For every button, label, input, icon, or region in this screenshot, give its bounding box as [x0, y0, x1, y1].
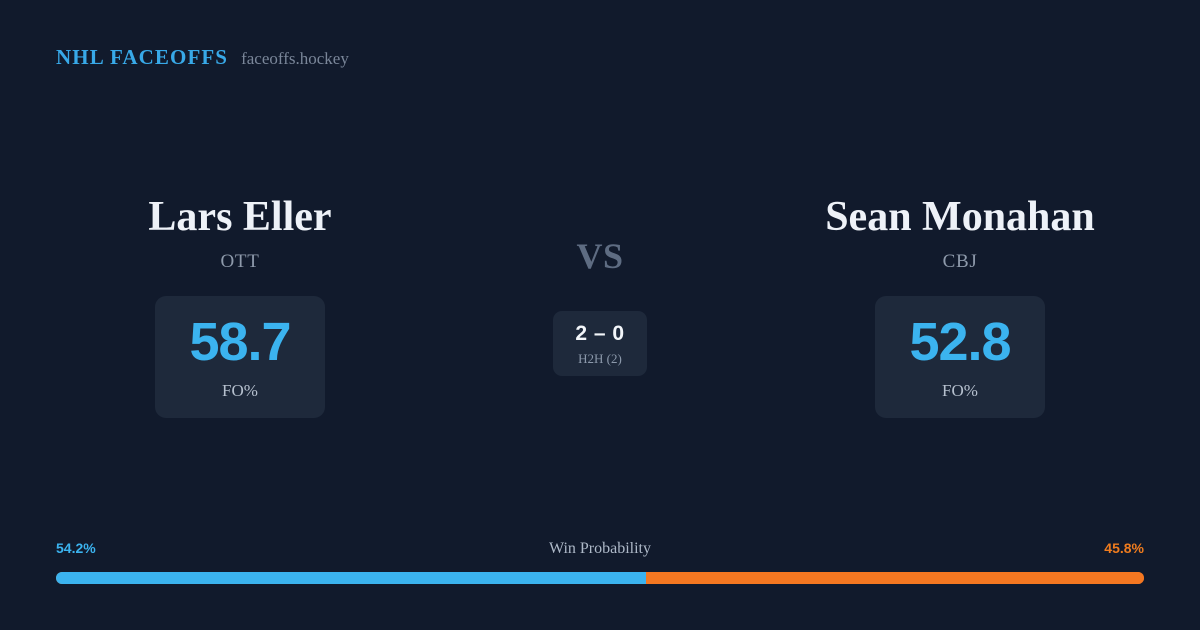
away-stat-card: 52.8 FO% — [875, 296, 1045, 418]
away-faceoff-percent-label: FO% — [942, 382, 978, 399]
head-to-head-label: H2H (2) — [578, 352, 622, 365]
away-player-name: Sean Monahan — [825, 195, 1095, 240]
home-team-abbr: OTT — [220, 252, 259, 271]
win-probability-bar-right-fill — [646, 572, 1144, 584]
away-player-panel: Sean Monahan CBJ 52.8 FO% — [720, 195, 1200, 418]
site-header: NHL FACEOFFS faceoffs.hockey — [56, 47, 349, 68]
home-faceoff-percent-label: FO% — [222, 382, 258, 399]
win-probability-bar-left-fill — [56, 572, 646, 584]
head-to-head-card: 2 – 0 H2H (2) — [553, 311, 647, 376]
win-probability-title: Win Probability — [56, 541, 1144, 557]
matchup-row: Lars Eller OTT 58.7 FO% VS 2 – 0 H2H (2)… — [0, 195, 1200, 418]
home-player-name: Lars Eller — [148, 195, 331, 240]
win-probability-right-value: 45.8% — [1104, 541, 1144, 555]
win-probability-section: 54.2% Win Probability 45.8% — [56, 541, 1144, 584]
home-player-panel: Lars Eller OTT 58.7 FO% — [0, 195, 480, 418]
win-probability-bar — [56, 572, 1144, 584]
away-team-abbr: CBJ — [943, 252, 978, 271]
center-column: VS 2 – 0 H2H (2) — [480, 195, 720, 376]
brand-title: NHL FACEOFFS — [56, 47, 228, 68]
win-probability-labels: 54.2% Win Probability 45.8% — [56, 541, 1144, 563]
home-stat-card: 58.7 FO% — [155, 296, 325, 418]
site-domain: faceoffs.hockey — [241, 50, 349, 67]
vs-label: VS — [576, 238, 623, 274]
home-faceoff-percent-value: 58.7 — [189, 315, 290, 369]
away-faceoff-percent-value: 52.8 — [909, 315, 1010, 369]
head-to-head-score: 2 – 0 — [575, 323, 624, 344]
